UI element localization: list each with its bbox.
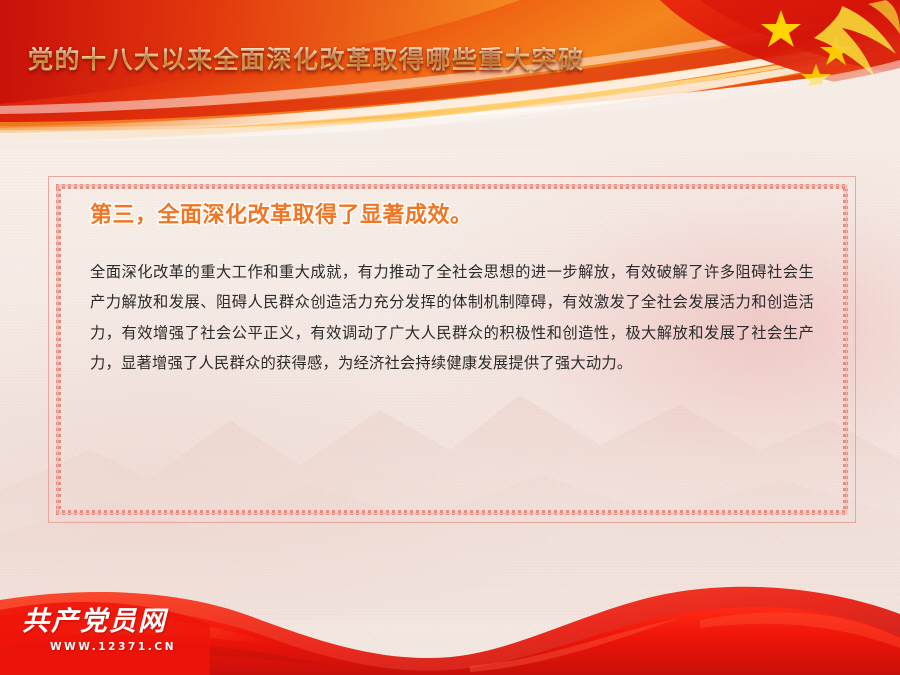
- card-content: 第三，全面深化改革取得了显著成效。 全面深化改革的重大工作和重大成就，有力推动了…: [90, 202, 814, 379]
- slide-canvas: 党的十八大以来全面深化改革取得哪些重大突破 第三，全面深化改革取得了显著成效。 …: [0, 0, 900, 675]
- content-card: 第三，全面深化改革取得了显著成效。 全面深化改革的重大工作和重大成就，有力推动了…: [48, 176, 856, 523]
- page-title: 党的十八大以来全面深化改革取得哪些重大突破: [28, 47, 585, 72]
- header-ribbon-graphic: [0, 0, 900, 150]
- logo-url: WWW.12371.CN: [22, 641, 176, 653]
- footer-banner: 共产党员网 WWW.12371.CN: [0, 570, 900, 675]
- section-heading: 第三，全面深化改革取得了显著成效。: [90, 202, 814, 231]
- site-logo[interactable]: 共产党员网 WWW.12371.CN: [22, 608, 176, 653]
- body-paragraph: 全面深化改革的重大工作和重大成就，有力推动了全社会思想的进一步解放，有效破解了许…: [90, 257, 814, 379]
- header-banner: 党的十八大以来全面深化改革取得哪些重大突破: [0, 0, 900, 150]
- logo-wordmark: 共产党员网: [22, 608, 176, 635]
